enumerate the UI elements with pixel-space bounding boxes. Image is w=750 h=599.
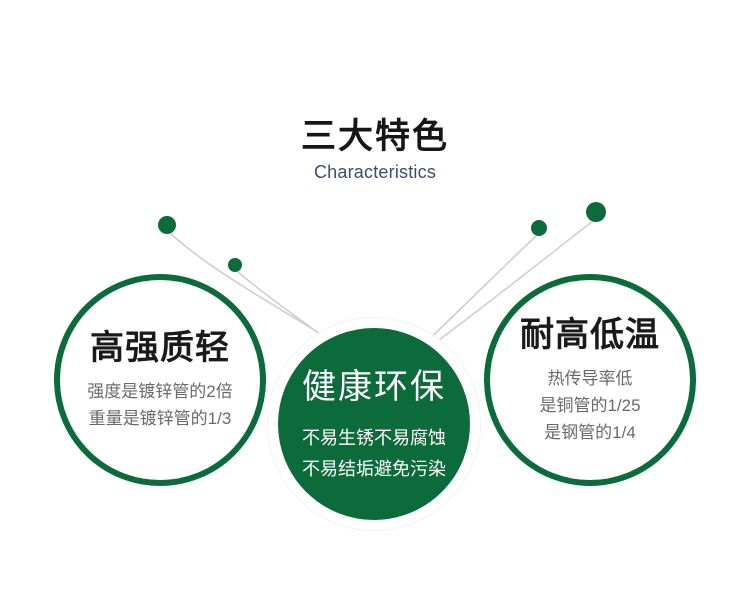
feature-content-right: 耐高低温 热传导率低 是铜管的1/25 是钢管的1/4 xyxy=(520,315,660,446)
feature-heading-right: 耐高低温 xyxy=(520,315,660,355)
dot-right-outer xyxy=(586,202,606,222)
feature-line-center-1: 不易生锈不易腐蚀 xyxy=(302,423,446,454)
dot-right-inner xyxy=(531,220,547,236)
feature-content-center: 健康环保 不易生锈不易腐蚀 不易结垢避免污染 xyxy=(302,367,446,485)
feature-line-center-2: 不易结垢避免污染 xyxy=(302,454,446,485)
feature-heading-center: 健康环保 xyxy=(302,367,446,407)
feature-line-right-1: 热传导率低 xyxy=(520,365,660,392)
dot-left-outer xyxy=(158,216,176,234)
feature-line-left-1: 强度是镀锌管的2倍 xyxy=(87,378,232,405)
dot-left-inner xyxy=(228,258,242,272)
feature-content-left: 高强质轻 强度是镀锌管的2倍 重量是镀锌管的1/3 xyxy=(87,328,232,432)
title-block: 三大特色 Characteristics xyxy=(0,116,750,184)
infographic-canvas: 三大特色 Characteristics 高强质轻 强度是镀锌管的2倍 重量是镀… xyxy=(0,0,750,599)
page-title: 三大特色 xyxy=(0,116,750,158)
feature-line-right-2: 是铜管的1/25 xyxy=(520,392,660,419)
feature-line-right-3: 是钢管的1/4 xyxy=(520,419,660,446)
feature-heading-left: 高强质轻 xyxy=(87,328,232,368)
page-subtitle: Characteristics xyxy=(0,160,750,184)
feature-circle-strength-light: 高强质轻 强度是镀锌管的2倍 重量是镀锌管的1/3 xyxy=(54,274,266,486)
feature-line-left-2: 重量是镀锌管的1/3 xyxy=(87,405,232,432)
feature-circle-temperature-resistant: 耐高低温 热传导率低 是铜管的1/25 是钢管的1/4 xyxy=(484,274,696,486)
feature-circle-healthy-eco: 健康环保 不易生锈不易腐蚀 不易结垢避免污染 xyxy=(268,318,480,530)
